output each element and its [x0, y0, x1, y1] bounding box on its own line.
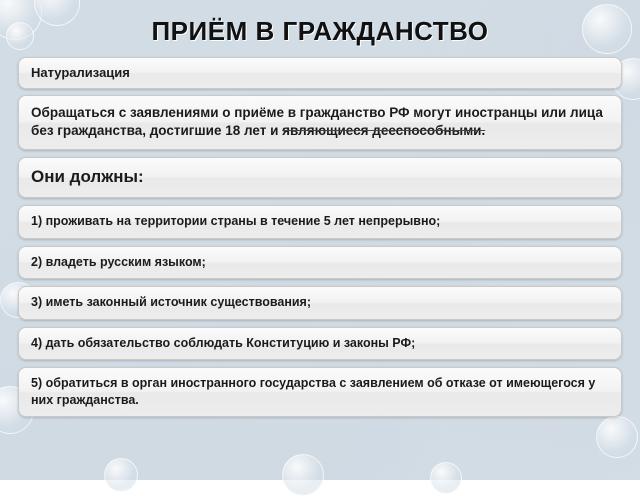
decorative-bubble — [430, 462, 462, 494]
card-requirement-2: 2) владеть русским языком; — [18, 246, 622, 280]
card-lead-paragraph: Обращаться с заявлениями о приёме в граж… — [18, 95, 622, 150]
requirement-3-text: 3) иметь законный источник существования… — [31, 295, 311, 309]
requirement-1-text: 1) проживать на территории страны в тече… — [31, 214, 440, 228]
requirement-4-text: 4) дать обязательство соблюдать Конститу… — [31, 336, 415, 350]
card-requirement-4: 4) дать обязательство соблюдать Конститу… — [18, 327, 622, 361]
requirement-2-text: 2) владеть русским языком; — [31, 255, 206, 269]
decorative-bubble — [104, 458, 138, 492]
card-naturalization-heading: Натурализация — [18, 57, 622, 89]
card-requirement-1: 1) проживать на территории страны в тече… — [18, 205, 622, 239]
page-title: ПРИЁМ В ГРАЖДАНСТВО — [0, 16, 640, 47]
decorative-bubble — [282, 454, 324, 496]
naturalization-heading-text: Натурализация — [31, 65, 130, 80]
card-requirement-3: 3) иметь законный источник существования… — [18, 286, 622, 320]
requirement-5-text: 5) обратиться в орган иностранного госуд… — [31, 376, 595, 407]
slide: ПРИЁМ В ГРАЖДАНСТВО Натурализация Обраща… — [0, 0, 640, 480]
card-requirement-5: 5) обратиться в орган иностранного госуд… — [18, 367, 622, 417]
lead-paragraph-strikethrough: являющиеся дееспособными. — [282, 123, 485, 138]
content-stack: Натурализация Обращаться с заявлениями о… — [18, 57, 622, 424]
they-must-heading-text: Они должны: — [31, 167, 144, 186]
card-they-must-heading: Они должны: — [18, 157, 622, 198]
